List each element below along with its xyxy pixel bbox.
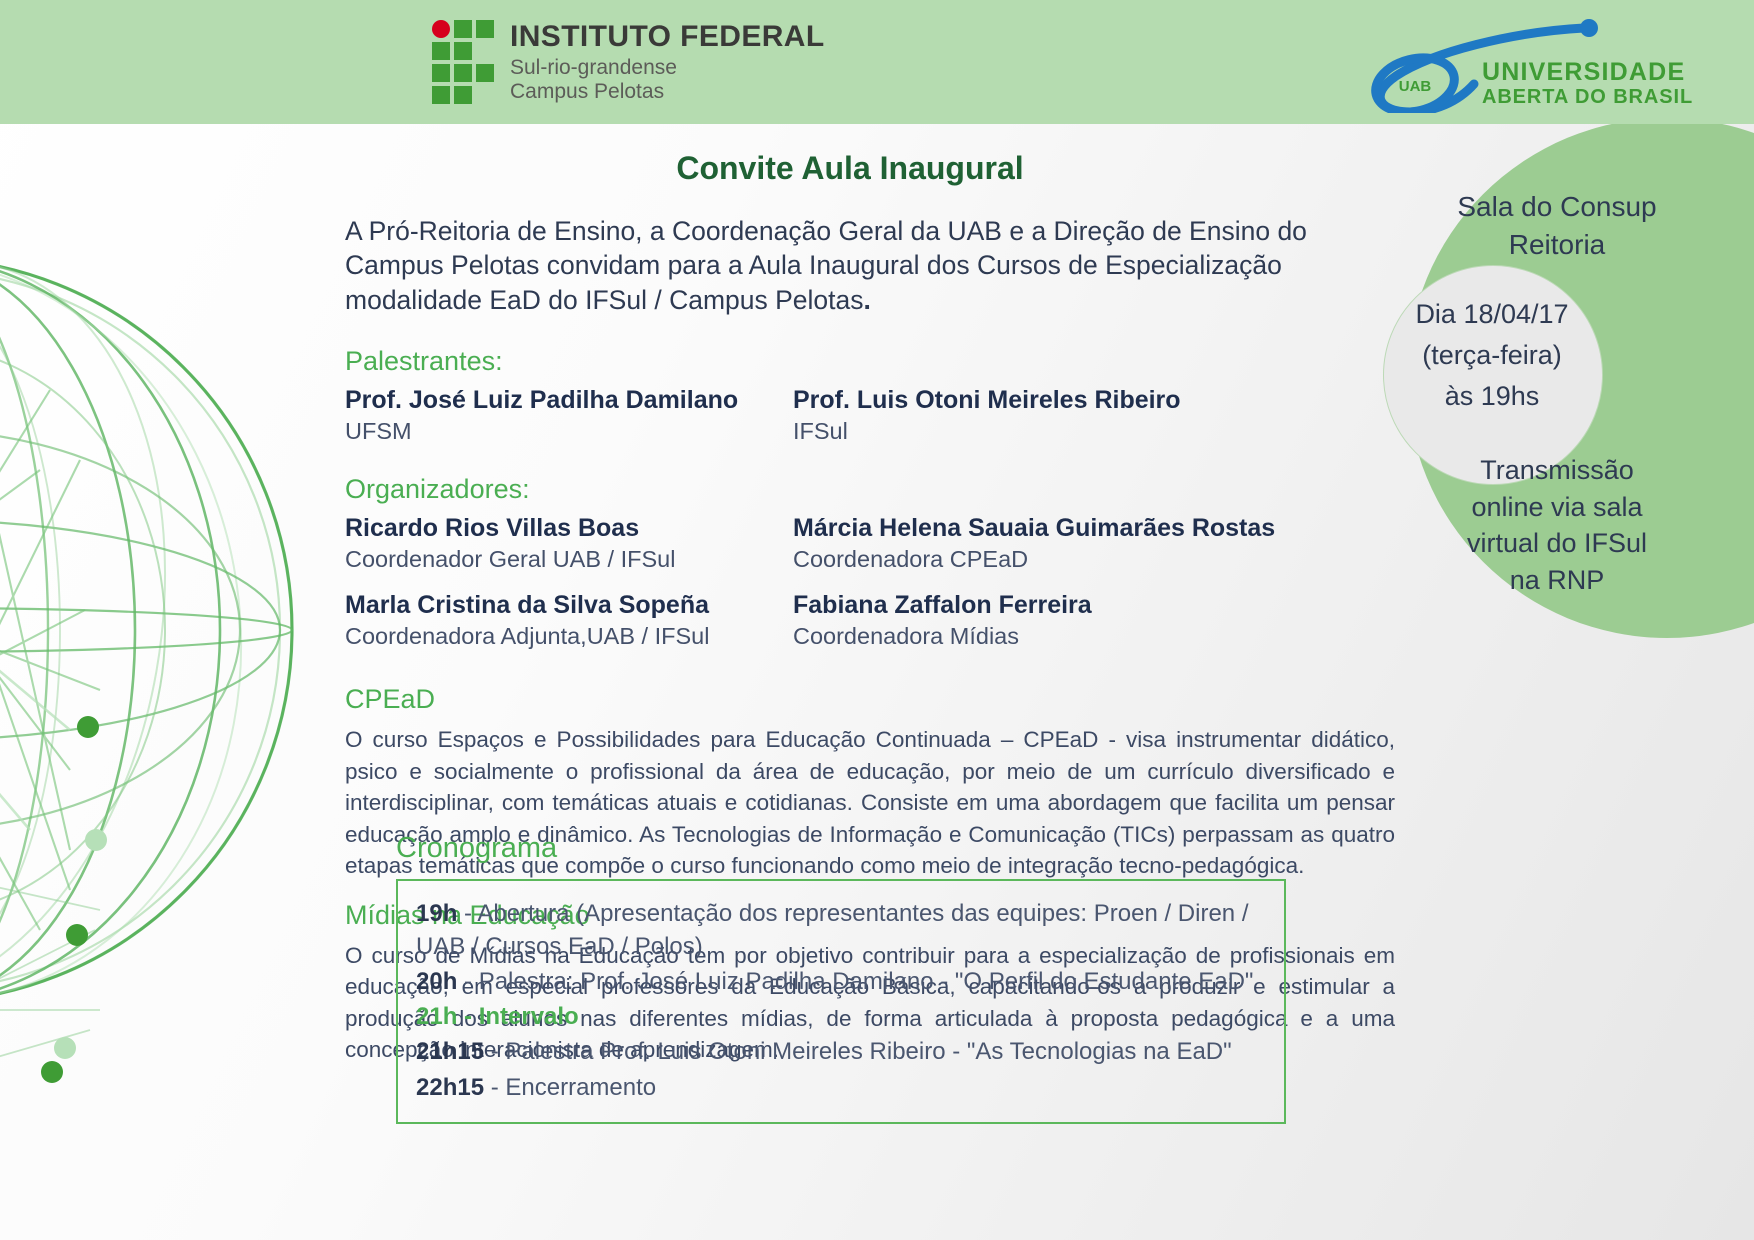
- speakers-heading: Palestrantes:: [345, 346, 1535, 377]
- organizers-heading: Organizadores:: [345, 474, 1535, 505]
- ifsul-logo: INSTITUTO FEDERAL Sul-rio-grandense Camp…: [432, 20, 825, 104]
- organizer-role: Coordenadora Adjunta,UAB / IFSul: [345, 622, 793, 651]
- speaker-item: Prof. José Luiz Padilha Damilano UFSM: [345, 385, 793, 446]
- schedule-desc: - Palestra Prof. Luis Otoni Meireles Rib…: [484, 1038, 1232, 1065]
- speaker-name: Prof. Luis Otoni Meireles Ribeiro: [793, 385, 1535, 415]
- svg-text:UAB: UAB: [1399, 78, 1432, 95]
- schedule-desc: - Palestra: Prof. José Luiz Padilha Dami…: [457, 968, 1253, 995]
- organizer-name: Ricardo Rios Villas Boas: [345, 513, 793, 543]
- schedule-row: 20h - Palestra: Prof. José Luiz Padilha …: [416, 965, 1264, 998]
- schedule-desc: - Abertura (Apresentação dos representan…: [416, 900, 1248, 960]
- ifsul-wordmark: INSTITUTO FEDERAL Sul-rio-grandense Camp…: [510, 22, 825, 102]
- schedule-heading: Cronograma: [396, 832, 1286, 865]
- schedule-row: 21h15 - Palestra Prof. Luis Otoni Meirel…: [416, 1035, 1264, 1068]
- schedule-row: 19h - Abertura (Apresentação dos represe…: [416, 897, 1264, 963]
- schedule-time: 20h: [416, 968, 457, 995]
- speaker-role: UFSM: [345, 417, 793, 446]
- organizers-grid: Ricardo Rios Villas Boas Coordenador Ger…: [345, 513, 1535, 666]
- schedule-desc: - Intervalo: [457, 1003, 578, 1030]
- intro-text: A Pró-Reitoria de Ensino, a Coordenação …: [345, 216, 1307, 316]
- intro-paragraph: A Pró-Reitoria de Ensino, a Coordenação …: [345, 214, 1375, 319]
- organizer-name: Márcia Helena Sauaia Guimarães Rostas: [793, 513, 1535, 543]
- organizer-role: Coordenadora Mídias: [793, 622, 1535, 651]
- ifsul-line-1: INSTITUTO FEDERAL: [510, 22, 825, 52]
- course-title: CPEaD: [345, 684, 1535, 715]
- schedule-time: 21h: [416, 1003, 457, 1030]
- schedule-time: 19h: [416, 900, 457, 927]
- ifsul-grid-icon: [432, 20, 494, 104]
- schedule-time: 22h15: [416, 1074, 484, 1101]
- organizer-item: Fabiana Zaffalon Ferreira Coordenadora M…: [793, 590, 1535, 651]
- schedule-row-intervalo: 21h - Intervalo: [416, 1000, 1264, 1033]
- schedule-row: 22h15 - Encerramento: [416, 1071, 1264, 1104]
- uab-logo: UAB UNIVERSIDADE ABERTA DO BRASIL: [1362, 18, 1722, 113]
- speaker-role: IFSul: [793, 417, 1535, 446]
- ifsul-line-2: Sul-rio-grandense: [510, 57, 825, 78]
- uab-wordmark: UNIVERSIDADE ABERTA DO BRASIL: [1482, 60, 1693, 107]
- page-title: Convite Aula Inaugural: [345, 150, 1355, 187]
- intro-period: .: [864, 285, 871, 315]
- network-globe-icon: [0, 130, 300, 1130]
- organizer-item: Marla Cristina da Silva Sopeña Coordenad…: [345, 590, 793, 651]
- organizer-name: Fabiana Zaffalon Ferreira: [793, 590, 1535, 620]
- organizer-role: Coordenador Geral UAB / IFSul: [345, 545, 793, 574]
- speaker-item: Prof. Luis Otoni Meireles Ribeiro IFSul: [793, 385, 1535, 446]
- ifsul-line-3: Campus Pelotas: [510, 81, 825, 102]
- speaker-name: Prof. José Luiz Padilha Damilano: [345, 385, 793, 415]
- schedule-time: 21h15: [416, 1038, 484, 1065]
- poster-canvas: Sala do Consup Reitoria Dia 18/04/17 (te…: [0, 0, 1754, 1240]
- schedule-desc: - Encerramento: [484, 1074, 656, 1101]
- schedule-box: 19h - Abertura (Apresentação dos represe…: [396, 879, 1286, 1124]
- schedule-section: Cronograma 19h - Abertura (Apresentação …: [396, 832, 1286, 1124]
- organizer-role: Coordenadora CPEaD: [793, 545, 1535, 574]
- organizer-item: Márcia Helena Sauaia Guimarães Rostas Co…: [793, 513, 1535, 574]
- uab-line-2: ABERTA DO BRASIL: [1482, 87, 1693, 107]
- organizer-name: Marla Cristina da Silva Sopeña: [345, 590, 793, 620]
- speakers-grid: Prof. José Luiz Padilha Damilano UFSM Pr…: [345, 385, 1535, 462]
- header-band: INSTITUTO FEDERAL Sul-rio-grandense Camp…: [0, 0, 1754, 124]
- organizer-item: Ricardo Rios Villas Boas Coordenador Ger…: [345, 513, 793, 574]
- uab-line-1: UNIVERSIDADE: [1482, 60, 1693, 85]
